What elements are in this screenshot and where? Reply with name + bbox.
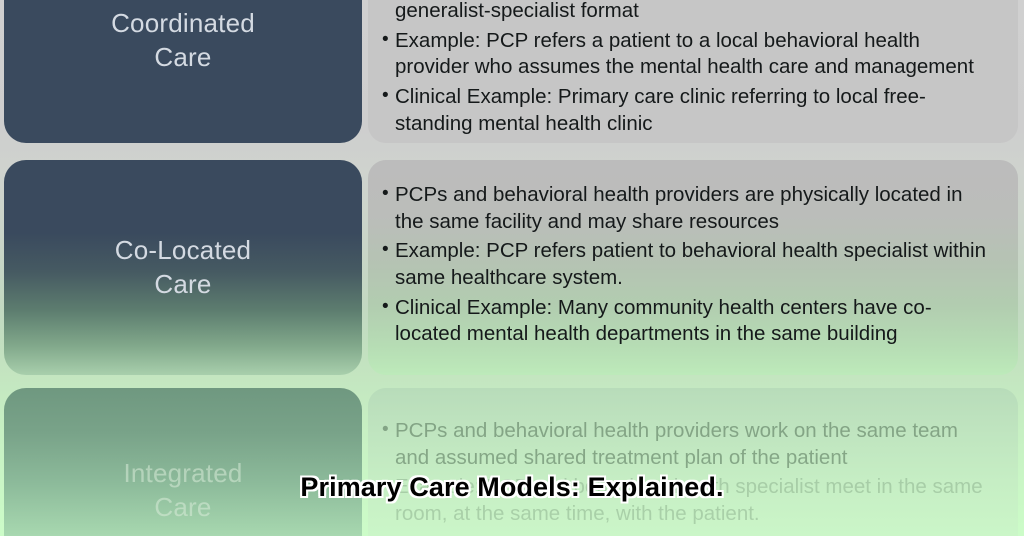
bullet-item: Clinical Example: Many community health …: [382, 295, 992, 348]
bullet-item: Example: PCP and behavioral health speci…: [382, 474, 992, 527]
bullet-list-integrated: PCPs and behavioral health providers wor…: [382, 418, 992, 528]
bullet-item: Example: PCP refers a patient to a local…: [382, 28, 992, 81]
model-label-card-integrated: Integrated Care: [4, 388, 362, 536]
care-model-row-colocated: Co-Located Care PCPs and behavioral heal…: [0, 160, 1024, 375]
model-label-text-coordinated: Coordinated Care: [111, 7, 255, 74]
bullet-item: PCPs and behavioral health providers are…: [382, 182, 992, 235]
model-content-card-colocated: PCPs and behavioral health providers are…: [368, 160, 1018, 375]
model-label-text-colocated: Co-Located Care: [115, 234, 251, 301]
model-label-text-integrated: Integrated Care: [123, 457, 242, 524]
model-content-card-coordinated: generalist-specialist format Example: PC…: [368, 0, 1018, 143]
model-label-line1: Integrated: [123, 458, 242, 488]
clipped-overflow-line: generalist-specialist format: [382, 0, 992, 25]
bullet-item: PCPs and behavioral health providers wor…: [382, 418, 992, 471]
bullet-list-colocated: PCPs and behavioral health providers are…: [382, 182, 992, 348]
model-label-line1: Co-Located: [115, 235, 251, 265]
model-label-line2: Care: [154, 492, 211, 522]
model-label-line1: Coordinated: [111, 8, 255, 38]
care-model-row-coordinated: Coordinated Care generalist-specialist f…: [0, 0, 1024, 143]
care-model-row-integrated: Integrated Care PCPs and behavioral heal…: [0, 388, 1024, 536]
model-label-line2: Care: [154, 269, 211, 299]
bullet-list-coordinated: Example: PCP refers a patient to a local…: [382, 28, 992, 138]
model-label-card-colocated: Co-Located Care: [4, 160, 362, 375]
model-content-card-integrated: PCPs and behavioral health providers wor…: [368, 388, 1018, 536]
model-label-card-coordinated: Coordinated Care: [4, 0, 362, 143]
slide-canvas: Coordinated Care generalist-specialist f…: [0, 0, 1024, 536]
model-label-line2: Care: [154, 42, 211, 72]
bullet-item: Example: PCP refers patient to behaviora…: [382, 238, 992, 291]
bullet-item: Clinical Example: Primary care clinic re…: [382, 84, 992, 137]
